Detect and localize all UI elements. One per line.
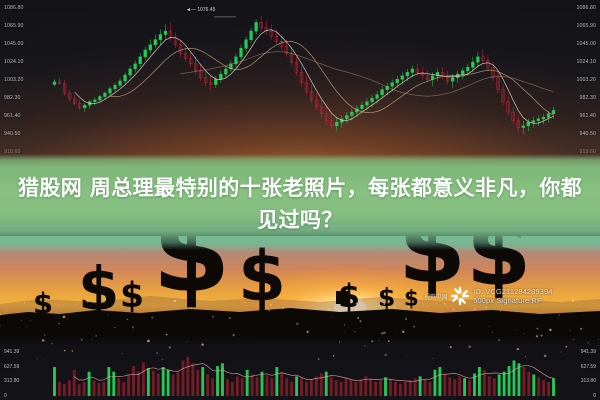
price-y-tick-left-4: 1003.20 bbox=[4, 77, 23, 83]
price-y-tick-left-7: 940.50 bbox=[4, 131, 20, 137]
price-y-tick-right-3: 1024.10 bbox=[577, 59, 596, 65]
screenshot-root: ◄— 1076.45 1086.801065.901045.001024.101… bbox=[0, 0, 600, 400]
price-y-tick-left-1: 1065.90 bbox=[4, 23, 23, 29]
price-y-tick-right-4: 1003.20 bbox=[577, 77, 596, 83]
watermark-id-line: ID: VCG211284289394 bbox=[473, 287, 552, 296]
price-y-tick-left-3: 1024.10 bbox=[4, 59, 23, 65]
price-y-tick-left-2: 1045.00 bbox=[4, 41, 23, 47]
price-chart-svg bbox=[0, 0, 600, 170]
price-y-tick-right-6: 961.40 bbox=[580, 113, 596, 119]
volume-y-tick-right-3: 0 bbox=[593, 393, 596, 399]
bokeh-speckles bbox=[0, 300, 600, 360]
volume-y-tick-left-1: 627.59 bbox=[4, 364, 19, 370]
volume-y-tick-right-2: 313.80 bbox=[581, 378, 596, 384]
price-chart-panel: ◄— 1076.45 1086.801065.901045.001024.101… bbox=[0, 0, 600, 170]
price-y-tick-left-6: 961.40 bbox=[4, 113, 20, 119]
price-y-tick-left-5: 982.30 bbox=[4, 95, 20, 101]
price-y-tick-right-5: 982.30 bbox=[580, 95, 596, 101]
vcg-asterisk-logo-icon bbox=[450, 286, 470, 306]
watermark: 视觉中国 ID: VCG211284289394 500px Signature… bbox=[424, 286, 553, 306]
volume-y-tick-left-2: 313.80 bbox=[4, 378, 19, 384]
price-annotation-label: ◄— 1076.45 bbox=[186, 7, 215, 13]
price-y-tick-right-2: 1045.00 bbox=[577, 41, 596, 47]
page-title: 猎股网 周总理最特别的十张老照片，每张都意义非凡，你都见过吗？ bbox=[0, 172, 600, 236]
watermark-license-line: 500px Signature RF bbox=[473, 296, 552, 305]
price-y-tick-right-1: 1065.90 bbox=[577, 23, 596, 29]
volume-y-tick-right-1: 627.59 bbox=[581, 364, 596, 370]
price-y-tick-right-0: 1086.80 bbox=[577, 5, 596, 11]
watermark-brand-cn: 视觉中国 bbox=[424, 292, 447, 301]
price-y-tick-right-7: 940.50 bbox=[580, 131, 596, 137]
volume-y-tick-left-3: 0 bbox=[4, 393, 7, 399]
price-y-tick-left-0: 1086.80 bbox=[4, 5, 23, 11]
